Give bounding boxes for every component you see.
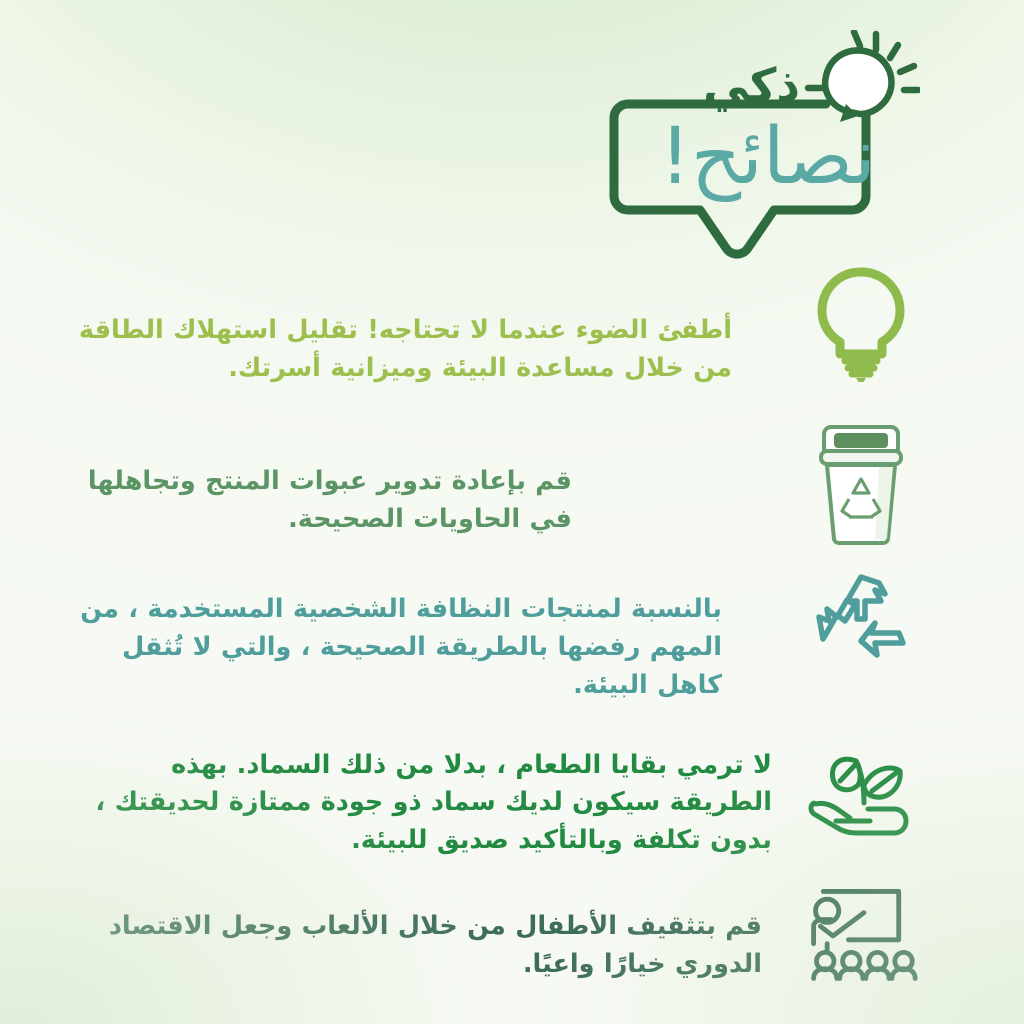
tip-text: بالنسبة لمنتجات النظافة الشخصية المستخدم… [72, 563, 748, 704]
tip-row: أطفئ الضوء عندما لا تحتاجه! تقليل استهلا… [0, 262, 1024, 387]
header-smart-word: ذكي [703, 62, 800, 108]
tip-row: قم بتثقيف الأطفال من خلال الألعاب وجعل ا… [0, 882, 1024, 1000]
tip-icon-wrap [802, 421, 920, 539]
tip-text: لا ترمي بقايا الطعام ، بدلا من ذلك السما… [72, 731, 798, 860]
tip-icon-wrap [802, 882, 920, 1000]
tip-icon-wrap [802, 264, 920, 382]
tip-icon-wrap [802, 741, 920, 859]
tip-row: قم بإعادة تدوير عبوات المنتج وتجاهلها في… [0, 421, 1024, 539]
classroom-teaching-icon [802, 882, 920, 986]
poster-canvas: ذكي نصائح! [0, 0, 1024, 1024]
hand-plant-icon [802, 741, 920, 853]
poster-header: ذكي نصائح! [0, 22, 1024, 272]
tip-text: أطفئ الضوء عندما لا تحتاجه! تقليل استهلا… [72, 262, 758, 387]
tip-text: قم بإعادة تدوير عبوات المنتج وتجاهلها في… [72, 421, 598, 538]
tip-row: بالنسبة لمنتجات النظافة الشخصية المستخدم… [0, 563, 1024, 704]
recycle-bin-icon [809, 421, 913, 547]
header-inner: ذكي نصائح! [568, 22, 928, 272]
tip-icon-wrap [802, 563, 920, 681]
lightbulb-icon [806, 264, 916, 382]
tip-row: لا ترمي بقايا الطعام ، بدلا من ذلك السما… [0, 731, 1024, 860]
tip-text: قم بتثقيف الأطفال من خلال الألعاب وجعل ا… [72, 882, 788, 983]
tips-list: أطفئ الضوء عندما لا تحتاجه! تقليل استهلا… [0, 262, 1024, 1000]
recycle-symbol-icon [807, 563, 915, 671]
lightbulb-icon [788, 30, 920, 162]
